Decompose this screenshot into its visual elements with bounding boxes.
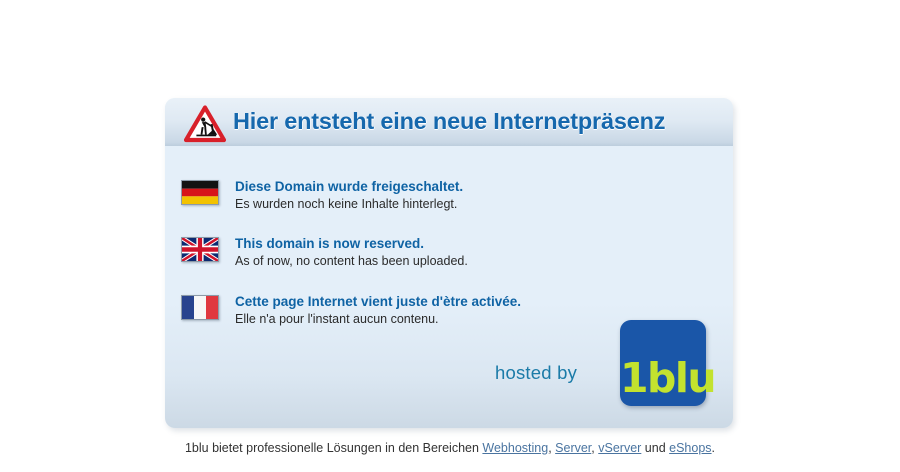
language-row-english: This domain is now reserved. As of now, … bbox=[181, 235, 711, 275]
footer-link-vserver[interactable]: vServer bbox=[598, 441, 641, 455]
language-sub-german: Es wurden noch keine Inhalte hinterlegt. bbox=[235, 196, 463, 213]
footer-end-text: . bbox=[712, 441, 715, 455]
footer-link-eshops[interactable]: eShops bbox=[669, 441, 711, 455]
hosted-by-block: hosted by 1blu bbox=[495, 320, 715, 412]
language-text-english: This domain is now reserved. As of now, … bbox=[235, 235, 468, 270]
1blu-logo[interactable]: 1blu bbox=[620, 320, 706, 406]
french-flag bbox=[181, 295, 219, 320]
1blu-logo-text: 1blu bbox=[620, 358, 706, 399]
language-text-german: Diese Domain wurde freigeschaltet. Es wu… bbox=[235, 178, 463, 213]
language-headline-french: Cette page Internet vient juste d'ètre a… bbox=[235, 293, 521, 310]
page-footer: 1blu bietet professionelle Lösungen in d… bbox=[0, 441, 900, 455]
language-headline-english: This domain is now reserved. bbox=[235, 235, 468, 252]
hosted-by-label: hosted by bbox=[495, 362, 577, 384]
page-title: Hier entsteht eine neue Internetpräsenz bbox=[233, 108, 665, 135]
roadworks-warning-icon bbox=[184, 105, 226, 143]
footer-lead-text: 1blu bietet professionelle Lösungen in d… bbox=[185, 441, 482, 455]
footer-link-webhosting[interactable]: Webhosting bbox=[482, 441, 548, 455]
footer-separator-3: und bbox=[641, 441, 669, 455]
uk-flag bbox=[181, 237, 219, 262]
placeholder-card: Hier entsteht eine neue Internetpräsenz … bbox=[165, 98, 733, 428]
german-flag bbox=[181, 180, 219, 205]
footer-link-server[interactable]: Server bbox=[555, 441, 591, 455]
language-text-french: Cette page Internet vient juste d'ètre a… bbox=[235, 293, 521, 328]
language-row-german: Diese Domain wurde freigeschaltet. Es wu… bbox=[181, 178, 711, 218]
language-sub-english: As of now, no content has been uploaded. bbox=[235, 253, 468, 270]
language-sub-french: Elle n'a pour l'instant aucun contenu. bbox=[235, 311, 521, 328]
language-headline-german: Diese Domain wurde freigeschaltet. bbox=[235, 178, 463, 195]
card-header: Hier entsteht eine neue Internetpräsenz bbox=[165, 98, 733, 146]
